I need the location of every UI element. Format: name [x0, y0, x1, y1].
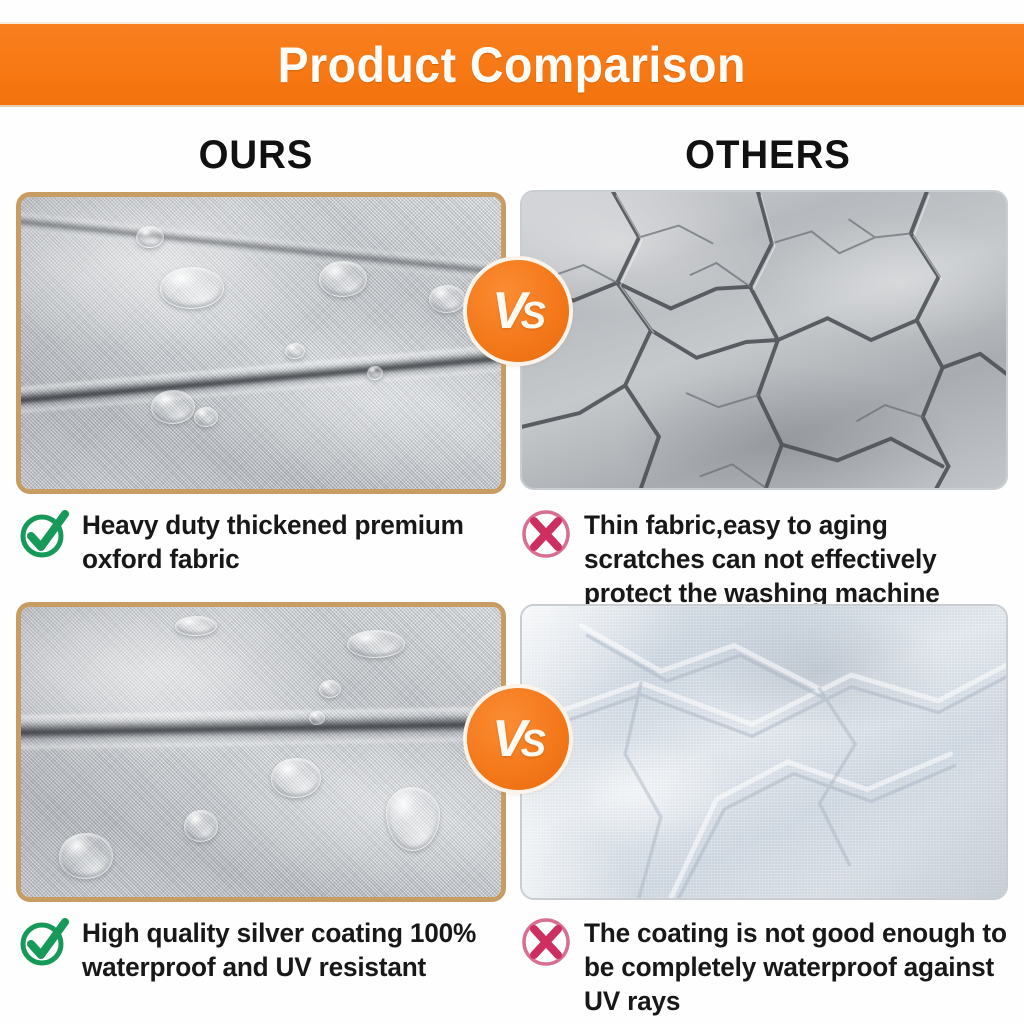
feature-row-others-1: Thin fabric,easy to aging scratches can …	[520, 506, 1020, 610]
vs-label: VS	[492, 285, 544, 337]
feature-text: Heavy duty thickened premium oxford fabr…	[82, 506, 486, 576]
water-droplet	[367, 366, 383, 380]
crease-lines	[522, 606, 1006, 898]
water-droplet	[319, 680, 341, 698]
image-panel-ours-fabric	[16, 192, 506, 494]
water-droplet	[194, 407, 218, 427]
cross-circle-icon	[520, 916, 572, 968]
nonwoven-fabric-texture	[522, 606, 1006, 898]
water-droplet	[271, 758, 321, 798]
check-circle-icon	[18, 916, 70, 968]
image-panel-ours-coating	[16, 602, 506, 902]
column-heading-others: OTHERS	[522, 133, 1014, 178]
cracked-coating-texture	[522, 192, 1006, 488]
water-droplet	[160, 267, 224, 309]
feature-row-ours-2: High quality silver coating 100% waterpr…	[18, 914, 498, 984]
image-panel-others-cracked	[520, 190, 1008, 490]
feature-row-others-2: The coating is not good enough to be com…	[520, 914, 1020, 1018]
oxford-fabric-texture	[21, 197, 501, 489]
check-circle-icon	[18, 508, 70, 560]
vs-label-s: S	[521, 297, 544, 335]
vs-label: VS	[492, 713, 544, 765]
cross-circle-icon	[520, 508, 572, 560]
silver-coating-texture	[21, 607, 501, 897]
feature-row-ours-1: Heavy duty thickened premium oxford fabr…	[18, 506, 498, 576]
column-heading-ours: OURS	[10, 133, 502, 178]
vs-badge-bottom: VS	[467, 688, 569, 790]
water-droplet	[319, 261, 367, 297]
product-comparison-infographic: Product Comparison OURS OTHERS	[0, 0, 1024, 1024]
feature-text: High quality silver coating 100% waterpr…	[82, 914, 486, 984]
vs-badge-top: VS	[467, 260, 569, 362]
feature-text: Thin fabric,easy to aging scratches can …	[584, 506, 1007, 610]
water-droplet	[151, 390, 195, 424]
water-droplet	[175, 616, 217, 636]
page-title: Product Comparison	[278, 36, 746, 94]
feature-text: The coating is not good enough to be com…	[584, 914, 1007, 1018]
vs-label-s: S	[521, 725, 544, 763]
image-panel-others-nonwoven	[520, 604, 1008, 900]
water-droplet	[285, 343, 305, 359]
water-droplet	[429, 285, 465, 313]
header-banner: Product Comparison	[0, 22, 1024, 107]
water-droplet	[184, 810, 218, 842]
crack-lines	[522, 192, 1006, 488]
